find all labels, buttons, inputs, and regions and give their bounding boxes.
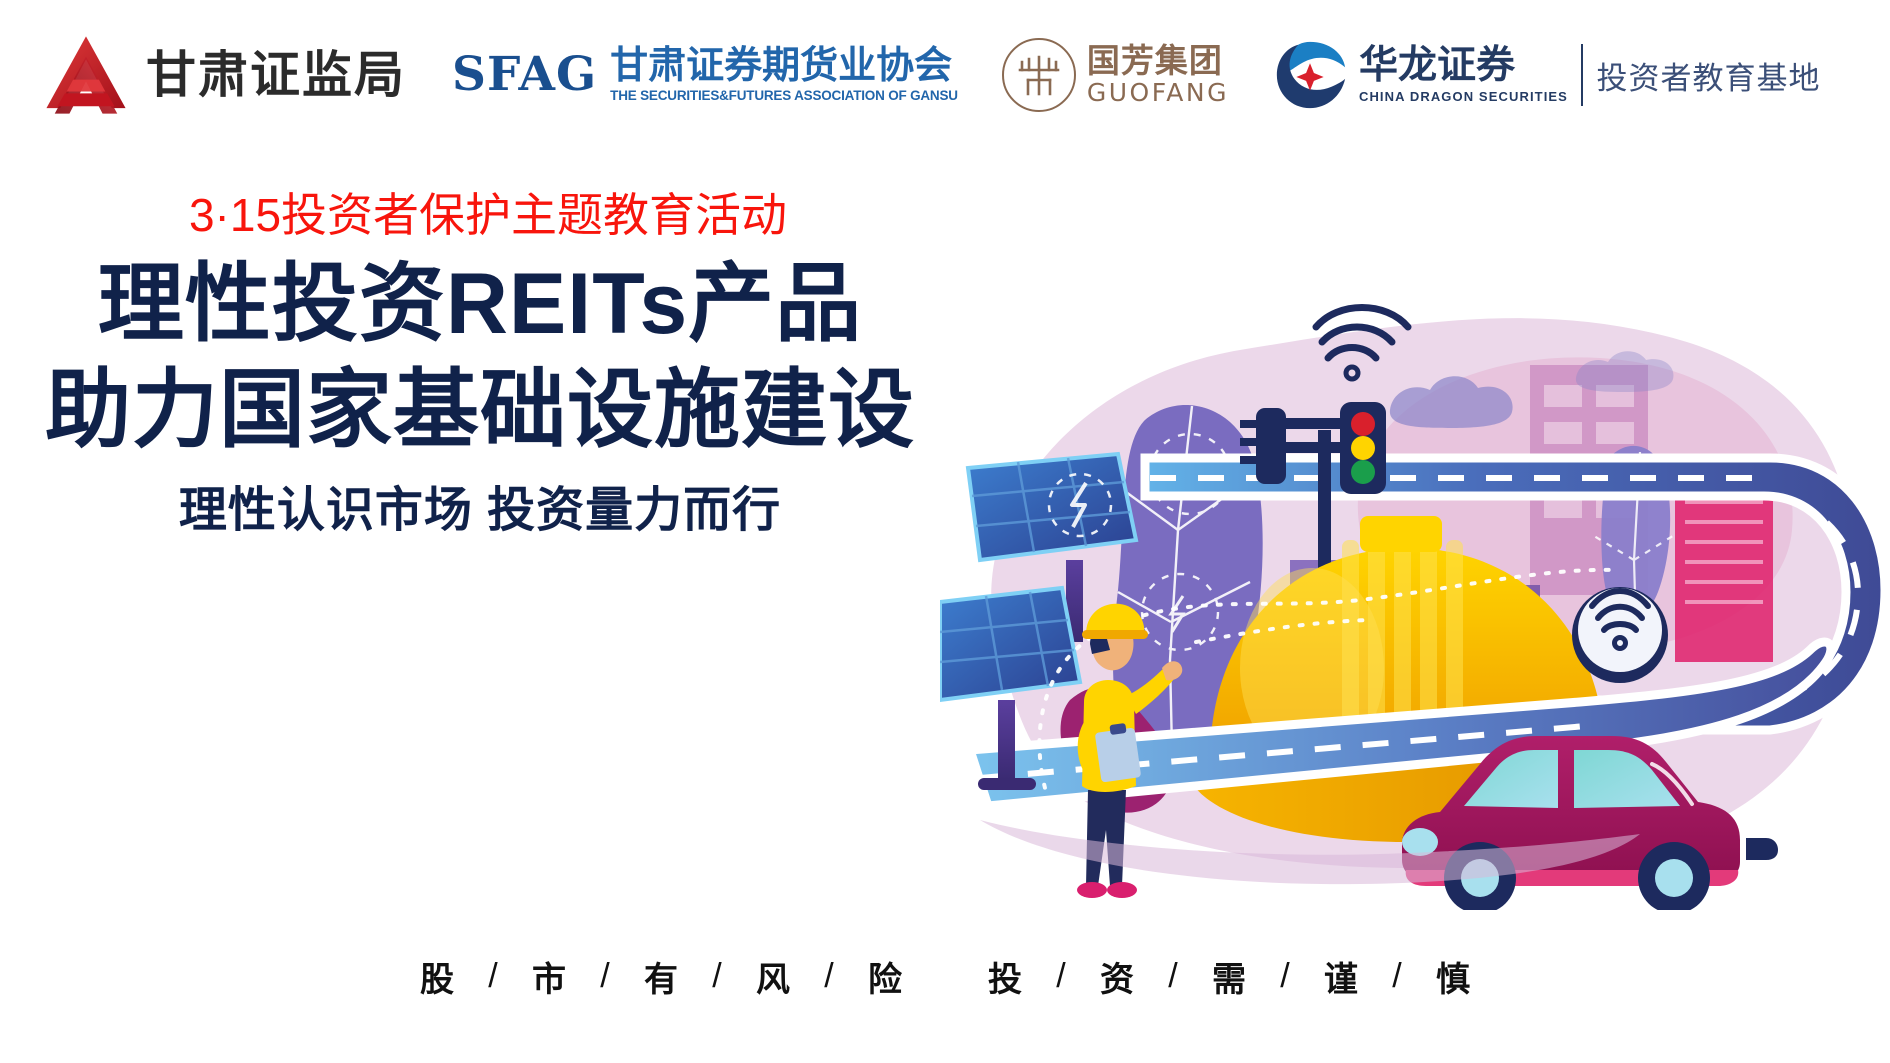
china-dragon-english-name: CHINA DRAGON SECURITIES xyxy=(1359,89,1568,104)
sfag-chinese-name: 甘肃证券期货业协会 xyxy=(610,47,958,87)
headline-copy-block: 3·15投资者保护主题教育活动 理性投资REITs产品 助力国家基础设施建设 理… xyxy=(0,190,960,539)
wifi-badge-icon xyxy=(1572,587,1668,683)
poster-root: 甘肃证监局 SFAG 甘肃证券期货业协会 THE SECURITIES&FUTU… xyxy=(0,0,1890,1063)
page-title: 理性投资REITs产品 助力国家基础设施建设 xyxy=(0,251,960,464)
headline-line-1: 理性投资REITs产品 xyxy=(0,251,960,358)
headline-subtitle: 理性认识市场 投资量力而行 xyxy=(0,482,960,540)
slogan-group-1: 股 / 市 / 有 / 风 / 险 xyxy=(409,952,913,1001)
slogan-group-2: 投 / 资 / 需 / 谨 / 慎 xyxy=(977,952,1481,1001)
slogan-char: 有 xyxy=(633,952,689,1001)
slogan-char: 资 xyxy=(1089,952,1145,1001)
slogan-char: 风 xyxy=(745,952,801,1001)
investor-education-base-label: 投资者教育基地 xyxy=(1596,53,1820,98)
logo-divider xyxy=(1581,44,1584,106)
slogan-char: 股 xyxy=(409,952,465,1001)
slogan-char: 市 xyxy=(521,952,577,1001)
csrc-triangle-icon xyxy=(40,29,132,121)
slogan-separator: / xyxy=(577,957,633,996)
guofang-chinese-name: 国芳集团 xyxy=(1087,44,1229,79)
slogan-char: 谨 xyxy=(1313,952,1369,1001)
smart-city-infrastructure-illustration xyxy=(940,230,1890,910)
slogan-char: 险 xyxy=(857,952,913,1001)
china-dragon-chinese-name: 华龙证券 xyxy=(1359,46,1568,86)
slogan-separator: / xyxy=(465,957,521,996)
campaign-kicker: 3·15投资者保护主题教育活动 xyxy=(0,190,960,241)
csrc-logo-text: 甘肃证监局 xyxy=(146,50,406,100)
slogan-separator: / xyxy=(1369,957,1425,996)
partner-logo-bar: 甘肃证监局 SFAG 甘肃证券期货业协会 THE SECURITIES&FUTU… xyxy=(0,0,1890,150)
risk-warning-slogan: 股 / 市 / 有 / 风 / 险 投 / 资 / 需 / 谨 / 慎 xyxy=(0,952,1890,1001)
logo-china-dragon: 华龙证券 CHINA DRAGON SECURITIES 投资者教育基地 xyxy=(1271,36,1821,114)
slogan-separator: / xyxy=(801,957,857,996)
wave-star-icon xyxy=(1271,36,1349,114)
slogan-separator: / xyxy=(689,957,745,996)
guofang-english-name: GUOFANG xyxy=(1087,80,1229,106)
logo-sfag: SFAG 甘肃证券期货业协会 THE SECURITIES&FUTURES AS… xyxy=(452,47,958,104)
deer-circle-icon xyxy=(1002,38,1076,112)
slogan-separator: / xyxy=(1145,957,1201,996)
slogan-char: 慎 xyxy=(1425,952,1481,1001)
slogan-separator: / xyxy=(1257,957,1313,996)
logo-guofang: 国芳集团 GUOFANG xyxy=(1002,38,1229,112)
sfag-abbreviation: SFAG xyxy=(452,51,597,98)
slogan-char: 需 xyxy=(1201,952,1257,1001)
logo-gansu-csrc: 甘肃证监局 xyxy=(40,29,406,121)
slogan-char: 投 xyxy=(977,952,1033,1001)
sfag-english-name: THE SECURITIES&FUTURES ASSOCIATION OF GA… xyxy=(610,88,958,103)
slogan-separator: / xyxy=(1033,957,1089,996)
headline-line-2: 助力国家基础设施建设 xyxy=(0,357,960,464)
